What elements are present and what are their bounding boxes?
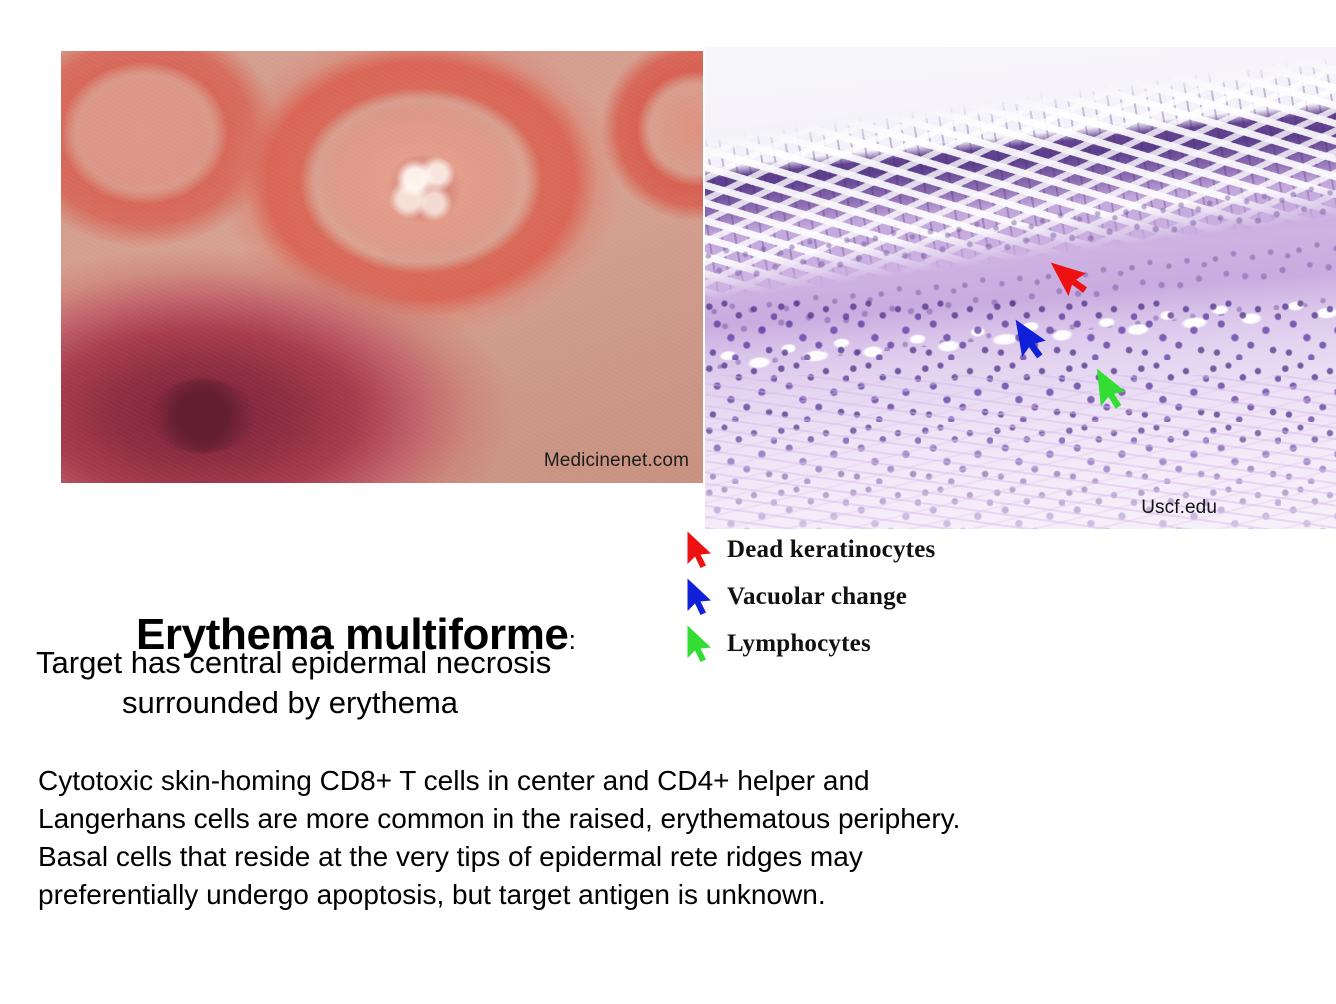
body-line-4: preferentially undergo apoptosis, but ta… [38, 876, 1148, 914]
slide-subtitle: Target has central epidermal necrosis su… [36, 643, 656, 723]
legend-item-lymphocytes: Lymphocytes [684, 620, 1104, 667]
body-line-1: Cytotoxic skin-homing CD8+ T cells in ce… [38, 762, 1148, 800]
histology-photo-interface-dermatitis: Uscf.edu [705, 47, 1336, 529]
arrow-pointer-icon-red [684, 530, 714, 570]
histology-arrow-legend: Dead keratinocytes Vacuolar change Lymph… [684, 526, 1104, 667]
green-arrow-lymphocytes-icon [1093, 363, 1132, 412]
slide-body-paragraph: Cytotoxic skin-homing CD8+ T cells in ce… [38, 762, 1148, 914]
subtitle-line-2: surrounded by erythema [36, 683, 656, 723]
body-line-3: Basal cells that reside at the very tips… [38, 838, 1148, 876]
clinical-photo-erythema-multiforme: Medicinenet.com [61, 51, 703, 483]
central-epidermal-necrosis [385, 155, 465, 222]
arrow-pointer-icon-green [684, 624, 714, 664]
legend-label-vacuolar-change: Vacuolar change [727, 583, 907, 611]
legend-label-dead-keratinocytes: Dead keratinocytes [727, 536, 935, 564]
dermal-collagen-texture [705, 375, 1336, 529]
subtitle-line-1: Target has central epidermal necrosis [36, 643, 656, 683]
legend-item-vacuolar-change: Vacuolar change [684, 573, 1104, 620]
legend-item-dead-keratinocytes: Dead keratinocytes [684, 526, 1104, 573]
dark-target-lesion-core [151, 379, 254, 452]
arrow-pointer-icon-blue [684, 577, 714, 617]
clinical-photo-credit: Medicinenet.com [544, 450, 689, 472]
body-line-2: Langerhans cells are more common in the … [38, 800, 1148, 838]
histology-photo-credit: Uscf.edu [1141, 497, 1217, 519]
legend-label-lymphocytes: Lymphocytes [727, 630, 871, 658]
